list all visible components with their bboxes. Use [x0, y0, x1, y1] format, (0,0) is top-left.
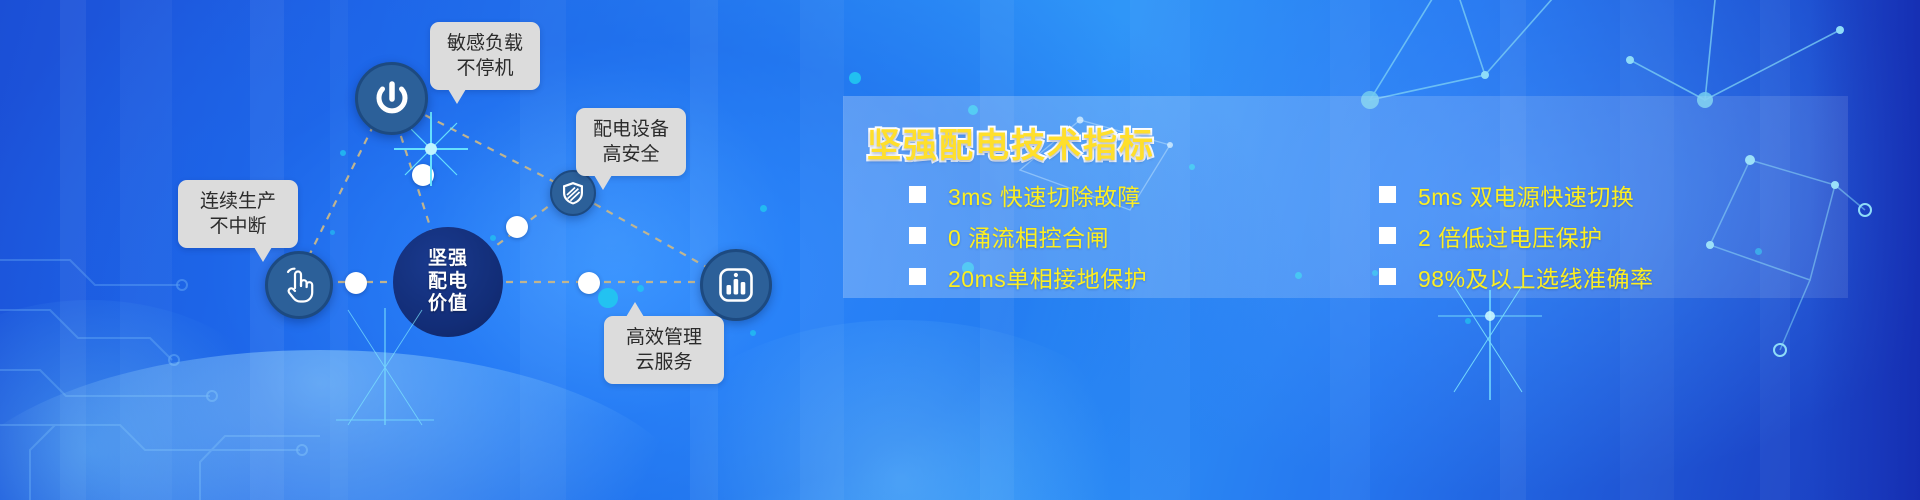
- bullet-square-icon: [909, 227, 926, 244]
- spec-text: 2 倍低过电压保护: [1418, 219, 1603, 253]
- spec-text: 20ms单相接地保护: [948, 260, 1147, 294]
- bullet-square-icon: [1379, 227, 1396, 244]
- node-power[interactable]: [355, 62, 428, 135]
- bubble-shield: 配电设备 高安全: [576, 108, 686, 176]
- bubble-power: 敏感负载 不停机: [430, 22, 540, 90]
- spec-list: 3ms 快速切除故障 5ms 双电源快速切换 0 涌流相控合闸 2 倍低过电压保…: [909, 174, 1839, 297]
- shield-icon: [560, 180, 586, 206]
- link-dot: [345, 272, 367, 294]
- spec-item: 2 倍低过电压保护: [1379, 219, 1839, 253]
- node-shield[interactable]: [550, 170, 596, 216]
- spec-item: 0 涌流相控合闸: [909, 219, 1379, 253]
- center-node-line-1: 坚强: [428, 248, 468, 270]
- bubble-chart: 高效管理 云服务: [604, 316, 724, 384]
- spec-text: 0 涌流相控合闸: [948, 219, 1109, 253]
- spec-text: 3ms 快速切除故障: [948, 178, 1141, 212]
- bar-chart-icon: [717, 266, 755, 304]
- spec-item: 3ms 快速切除故障: [909, 178, 1379, 212]
- spec-item: 98%及以上选线准确率: [1379, 260, 1839, 294]
- spec-panel: 坚强配电技术指标 3ms 快速切除故障 5ms 双电源快速切换 0 涌流相控合闸…: [843, 96, 1848, 298]
- promo-banner: 坚强 配电 价值: [0, 0, 1920, 500]
- bubble-touch: 连续生产 不中断: [178, 180, 298, 248]
- center-node-line-3: 价值: [428, 293, 468, 315]
- power-icon: [372, 79, 412, 119]
- node-chart[interactable]: [700, 249, 772, 321]
- spec-text: 98%及以上选线准确率: [1418, 260, 1654, 294]
- bullet-square-icon: [909, 186, 926, 203]
- speck: [849, 72, 861, 84]
- panel-title: 坚强配电技术指标: [867, 118, 1155, 167]
- spec-item: 5ms 双电源快速切换: [1379, 178, 1839, 212]
- touch-hand-icon: [281, 266, 317, 304]
- bullet-square-icon: [909, 268, 926, 285]
- speck: [1465, 318, 1471, 324]
- sparkle-icon-panel: [1430, 280, 1550, 410]
- link-dot: [578, 272, 600, 294]
- bullet-square-icon: [1379, 268, 1396, 285]
- spec-item: 20ms单相接地保护: [909, 260, 1379, 294]
- bullet-square-icon: [1379, 186, 1396, 203]
- node-touch[interactable]: [265, 251, 333, 319]
- link-dot: [506, 216, 528, 238]
- value-network-diagram: 坚强 配电 价值: [0, 0, 840, 500]
- center-node-line-2: 配电: [428, 271, 468, 293]
- link-dot: [412, 164, 434, 186]
- center-node: 坚强 配电 价值: [393, 227, 503, 337]
- spec-text: 5ms 双电源快速切换: [1418, 178, 1634, 212]
